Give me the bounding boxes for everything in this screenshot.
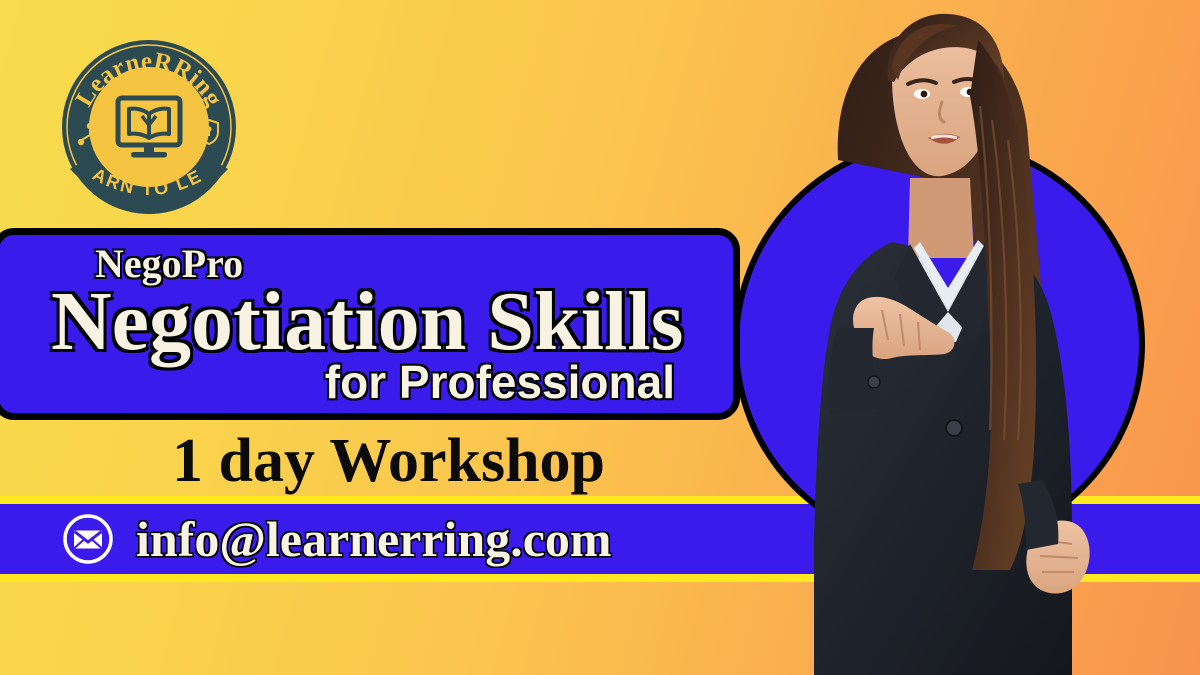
contact-email[interactable]: info@learnerring.com: [136, 512, 612, 566]
envelope-icon: [62, 513, 114, 565]
title-panel: NegoPro Negotiation Skills for Professio…: [0, 228, 740, 420]
workshop-duration: 1 day Workshop: [172, 428, 605, 494]
brand-logo: LearneRRing: [60, 38, 238, 216]
photo-circle-backdrop: [733, 138, 1145, 550]
page-title: Negotiation Skills: [51, 279, 703, 365]
promotional-banner: info@learnerring.com NegoPro Negotiation…: [0, 0, 1200, 675]
open-book-icon: [129, 109, 169, 138]
